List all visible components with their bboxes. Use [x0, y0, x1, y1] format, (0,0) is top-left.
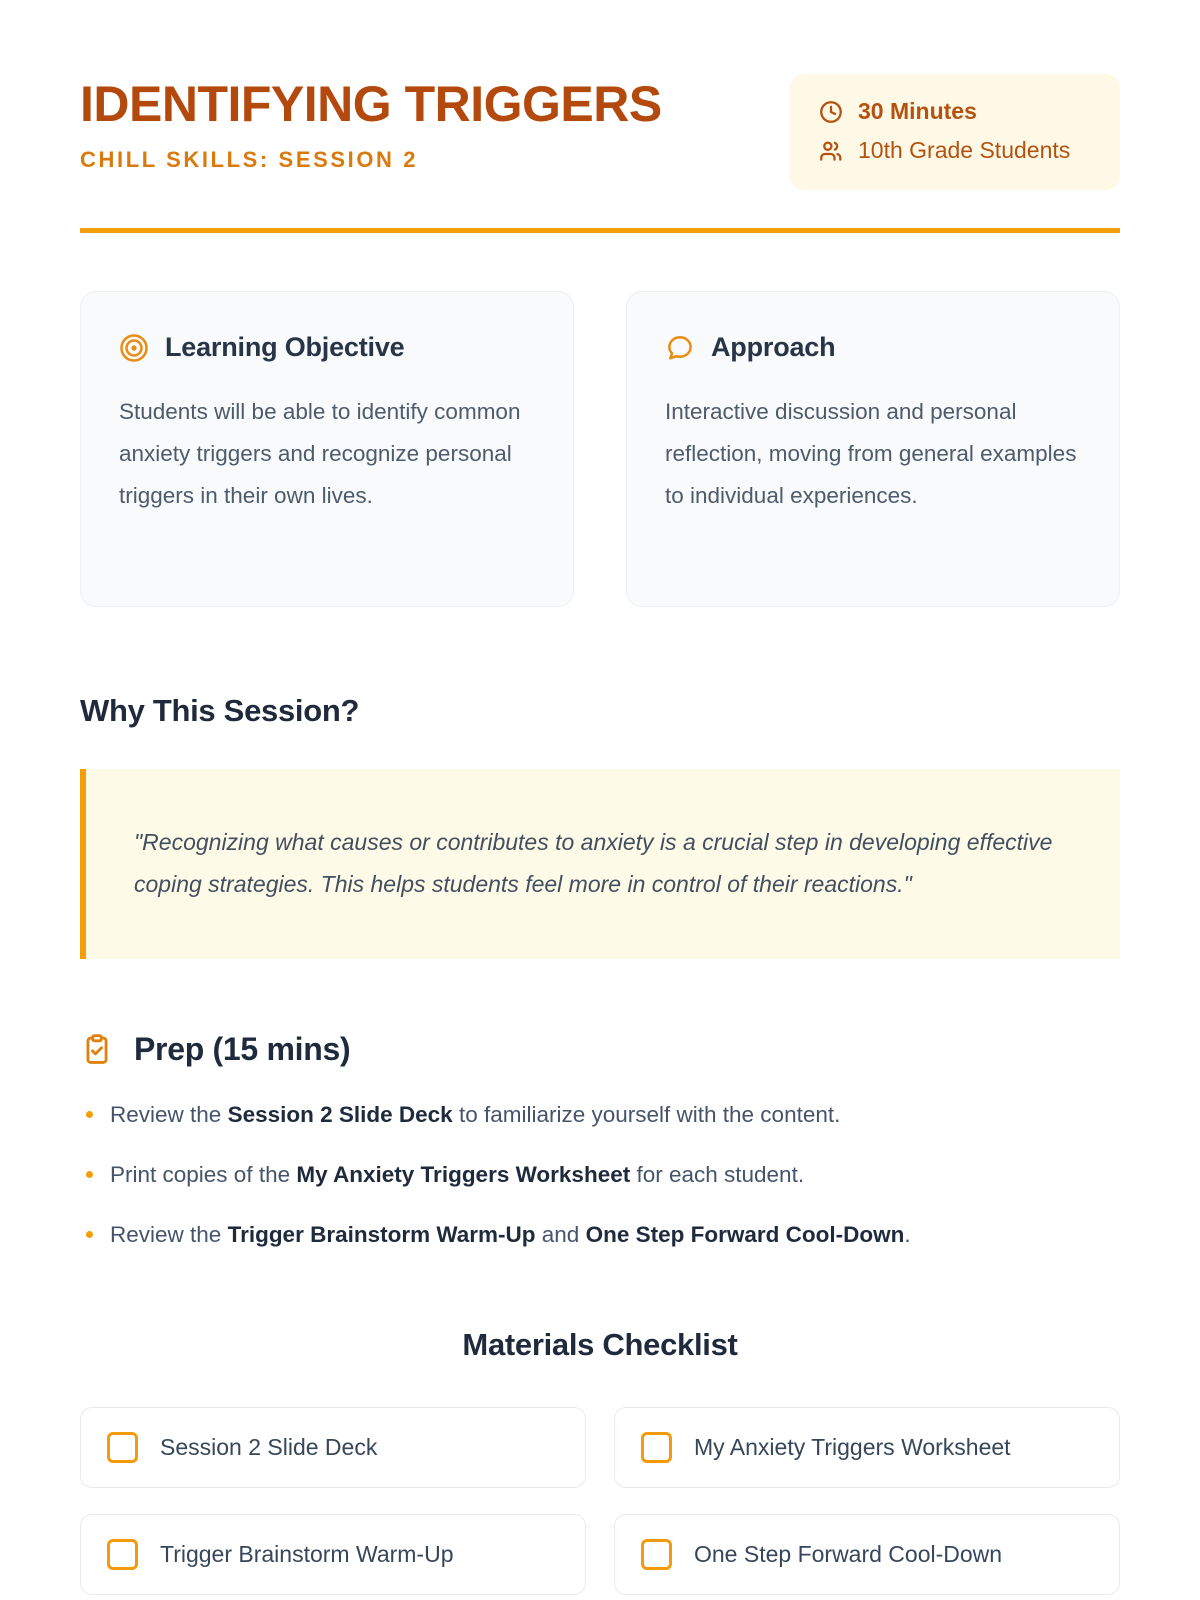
card-title: Approach	[711, 332, 835, 363]
header-accent-rule	[80, 228, 1120, 233]
learning-objective-card: Learning Objective Students will be able…	[80, 291, 574, 607]
duration-label: 30 Minutes	[858, 98, 977, 125]
audience-row: 10th Grade Students	[818, 137, 1092, 164]
checkbox-unchecked-icon[interactable]	[641, 1432, 672, 1463]
checkbox-unchecked-icon[interactable]	[107, 1432, 138, 1463]
prep-header: Prep (15 mins)	[80, 1031, 1120, 1068]
material-item[interactable]: One Step Forward Cool-Down	[614, 1514, 1120, 1595]
material-item[interactable]: My Anxiety Triggers Worksheet	[614, 1407, 1120, 1488]
lesson-plan-page: IDENTIFYING TRIGGERS CHILL SKILLS: SESSI…	[0, 0, 1200, 1600]
audience-label: 10th Grade Students	[858, 137, 1070, 164]
page-subtitle: CHILL SKILLS: SESSION 2	[80, 147, 662, 173]
page-header: IDENTIFYING TRIGGERS CHILL SKILLS: SESSI…	[80, 0, 1120, 190]
why-this-session-section: Why This Session? "Recognizing what caus…	[80, 693, 1120, 959]
material-label: My Anxiety Triggers Worksheet	[694, 1434, 1011, 1461]
chat-bubble-icon	[665, 333, 695, 363]
info-cards: Learning Objective Students will be able…	[80, 291, 1120, 607]
card-header: Learning Objective	[119, 332, 535, 363]
prep-item-middle: and	[536, 1222, 586, 1247]
prep-list: Review the Session 2 Slide Deck to famil…	[80, 1098, 1120, 1251]
materials-checklist-section: Materials Checklist Session 2 Slide Deck…	[80, 1327, 1120, 1595]
prep-list-item: Review the Trigger Brainstorm Warm-Up an…	[80, 1218, 1120, 1252]
prep-list-item: Review the Session 2 Slide Deck to famil…	[80, 1098, 1120, 1132]
card-header: Approach	[665, 332, 1081, 363]
checkbox-unchecked-icon[interactable]	[641, 1539, 672, 1570]
prep-list-item: Print copies of the My Anxiety Triggers …	[80, 1158, 1120, 1192]
users-icon	[818, 138, 844, 164]
prep-item-prefix: Review the	[110, 1102, 228, 1127]
section-heading-why: Why This Session?	[80, 693, 1120, 729]
duration-row: 30 Minutes	[818, 98, 1092, 125]
card-body: Students will be able to identify common…	[119, 391, 535, 517]
rationale-quote-block: "Recognizing what causes or contributes …	[80, 769, 1120, 959]
prep-item-prefix: Print copies of the	[110, 1162, 296, 1187]
prep-item-prefix: Review the	[110, 1222, 228, 1247]
prep-item-suffix: for each student.	[630, 1162, 804, 1187]
material-label: Session 2 Slide Deck	[160, 1434, 377, 1461]
section-heading-materials: Materials Checklist	[80, 1327, 1120, 1363]
clock-icon	[818, 99, 844, 125]
prep-item-bold: Session 2 Slide Deck	[228, 1102, 453, 1127]
prep-item-suffix: to familiarize yourself with the content…	[453, 1102, 841, 1127]
prep-item-suffix: .	[904, 1222, 910, 1247]
prep-section: Prep (15 mins) Review the Session 2 Slid…	[80, 1031, 1120, 1251]
material-label: Trigger Brainstorm Warm-Up	[160, 1541, 454, 1568]
page-title: IDENTIFYING TRIGGERS	[80, 78, 662, 131]
prep-item-bold-2: One Step Forward Cool-Down	[586, 1222, 905, 1247]
card-title: Learning Objective	[165, 332, 404, 363]
material-item[interactable]: Session 2 Slide Deck	[80, 1407, 586, 1488]
prep-title: Prep (15 mins)	[134, 1031, 350, 1068]
approach-card: Approach Interactive discussion and pers…	[626, 291, 1120, 607]
card-body: Interactive discussion and personal refl…	[665, 391, 1081, 517]
clipboard-check-icon	[80, 1033, 114, 1067]
material-item[interactable]: Trigger Brainstorm Warm-Up	[80, 1514, 586, 1595]
material-label: One Step Forward Cool-Down	[694, 1541, 1002, 1568]
materials-grid: Session 2 Slide Deck My Anxiety Triggers…	[80, 1407, 1120, 1595]
title-block: IDENTIFYING TRIGGERS CHILL SKILLS: SESSI…	[80, 74, 662, 173]
checkbox-unchecked-icon[interactable]	[107, 1539, 138, 1570]
prep-item-bold: My Anxiety Triggers Worksheet	[296, 1162, 630, 1187]
rationale-quote-text: "Recognizing what causes or contributes …	[134, 821, 1072, 905]
target-icon	[119, 333, 149, 363]
session-meta-badge: 30 Minutes 10th Grade Students	[790, 74, 1120, 190]
prep-item-bold: Trigger Brainstorm Warm-Up	[228, 1222, 536, 1247]
